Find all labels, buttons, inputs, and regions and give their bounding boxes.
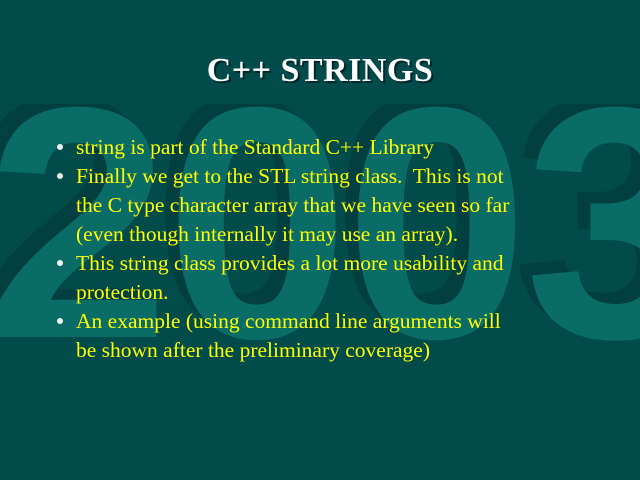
slide-bullet-list: string is part of the Standard C++ Libra…	[50, 133, 630, 365]
bullet-text-line: protection.	[76, 278, 630, 307]
bullet-item: This string class provides a lot more us…	[50, 249, 630, 307]
bullet-point-icon	[57, 260, 63, 266]
bullet-point-icon	[57, 318, 63, 324]
bullet-text-line: the C type character array that we have …	[76, 191, 630, 220]
bullet-text-line: Finally we get to the STL string class. …	[76, 162, 630, 191]
bullet-text-line: be shown after the preliminary coverage)	[76, 336, 630, 365]
bullet-text-line: string is part of the Standard C++ Libra…	[76, 133, 630, 162]
bullet-point-icon	[57, 144, 63, 150]
bullet-text-line: This string class provides a lot more us…	[76, 249, 630, 278]
bullet-item: string is part of the Standard C++ Libra…	[50, 133, 630, 162]
bullet-item: Finally we get to the STL string class. …	[50, 162, 630, 249]
bullet-item: An example (using command line arguments…	[50, 307, 630, 365]
bullet-text-line: An example (using command line arguments…	[76, 307, 630, 336]
presentation-slide: 2003 2003 C++ STRINGS string is part of …	[0, 0, 640, 480]
bullet-point-icon	[57, 173, 63, 179]
slide-title: C++ STRINGS	[0, 52, 640, 90]
bullet-text-line: (even though internally it may use an ar…	[76, 220, 630, 249]
